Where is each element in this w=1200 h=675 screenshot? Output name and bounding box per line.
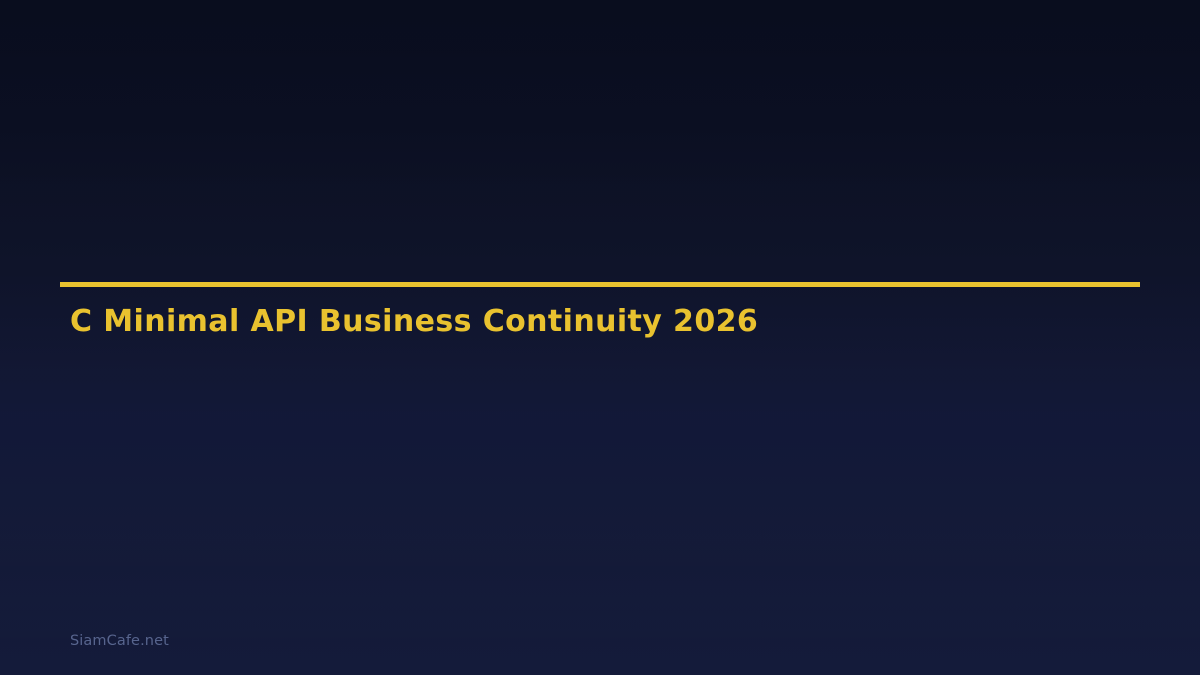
slide-footer: SiamCafe.net xyxy=(70,630,169,649)
page-title: C Minimal API Business Continuity 2026 xyxy=(60,287,1140,338)
presentation-slide: C Minimal API Business Continuity 2026 S… xyxy=(0,0,1200,675)
footer-brand-label: SiamCafe.net xyxy=(70,633,169,649)
title-block: C Minimal API Business Continuity 2026 xyxy=(60,282,1140,338)
